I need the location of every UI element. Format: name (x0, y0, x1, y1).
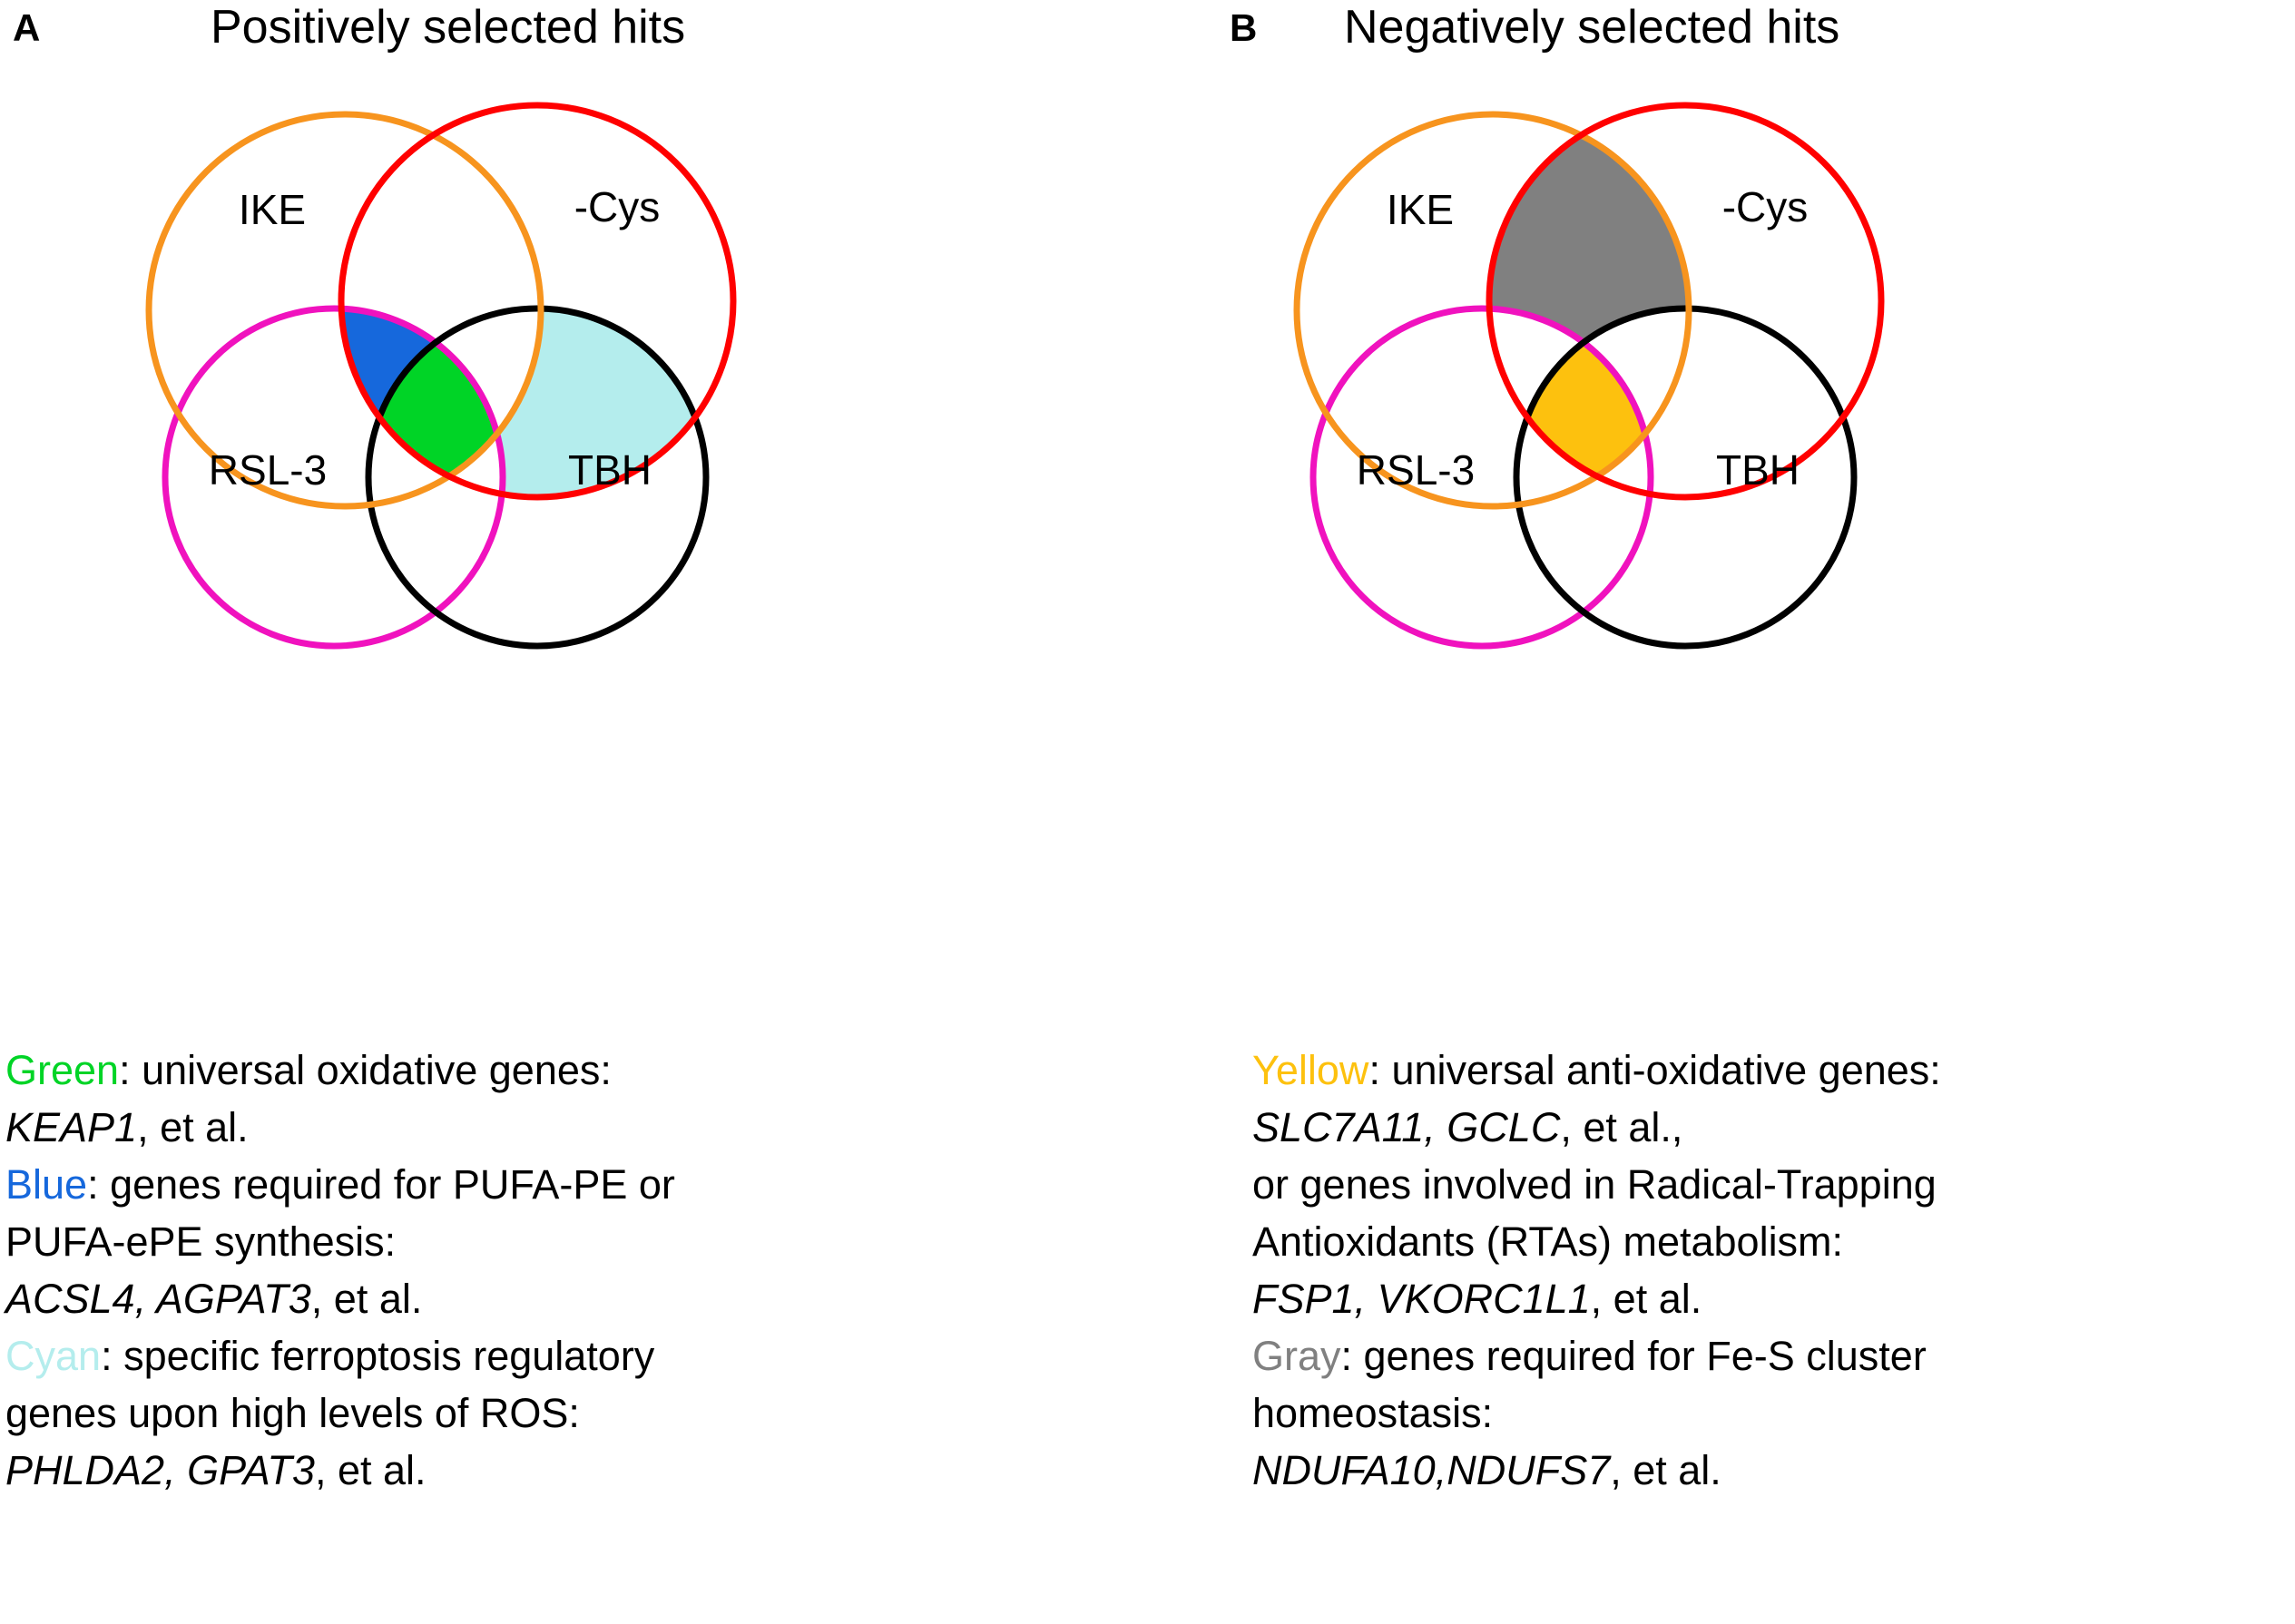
legend-line: NDUFA10,NDUFS7, et al. (1252, 1442, 2295, 1499)
legend-gene-names: KEAP1 (5, 1104, 137, 1150)
legend-line: Gray: genes required for Fe-S cluster (1252, 1327, 2295, 1384)
legend-line: Blue: genes required for PUFA-PE or (5, 1156, 1140, 1213)
legend-text: , et al. (311, 1276, 423, 1322)
panel-b-label-tbh: TBH (1716, 446, 1800, 494)
legend-line: homeostasis: (1252, 1384, 2295, 1442)
legend-gene-names: NDUFA10,NDUFS7 (1252, 1447, 1610, 1493)
legend-line: PHLDA2, GPAT3, et al. (5, 1442, 1140, 1499)
legend-text: Antioxidants (RTAs) metabolism: (1252, 1218, 1843, 1265)
panel-b-label-rsl3: RSL-3 (1357, 446, 1475, 494)
legend-color-word: Gray (1252, 1333, 1341, 1379)
panel-a-label-ike: IKE (239, 186, 306, 233)
legend-color-word: Green (5, 1047, 119, 1093)
legend-gene-names: FSP1, VKORC1L1 (1252, 1276, 1591, 1322)
legend-line: FSP1, VKORC1L1, et al. (1252, 1270, 2295, 1327)
legend-text: : universal anti-oxidative genes: (1368, 1047, 1940, 1093)
legend-line: SLC7A11, GCLC, et al., (1252, 1099, 2295, 1156)
legend-text: , et al. (137, 1104, 249, 1150)
legend-text: : genes required for PUFA-PE or (87, 1161, 675, 1208)
legend-line: KEAP1, et al. (5, 1099, 1140, 1156)
legend-line: genes upon high levels of ROS: (5, 1384, 1140, 1442)
legend-gene-names: ACSL4, AGPAT3 (5, 1276, 311, 1322)
legend-line: PUFA-ePE synthesis: (5, 1213, 1140, 1270)
panel-a-cyan-region (0, 54, 1148, 653)
panel-b: B Negatively selected hits (1148, 0, 2295, 1624)
legend-color-word: Blue (5, 1161, 87, 1208)
legend-line: Antioxidants (RTAs) metabolism: (1252, 1213, 2295, 1270)
venn-diagram-b: IKE -Cys RSL-3 TBH (1148, 54, 2295, 653)
legend-text: , et al. (315, 1447, 427, 1493)
legend-line: ACSL4, AGPAT3, et al. (5, 1270, 1140, 1327)
panel-b-label-cys: -Cys (1722, 183, 1809, 230)
panel-a-label-rsl3: RSL-3 (209, 446, 327, 494)
panel-b-label-ike: IKE (1387, 186, 1454, 233)
panel-a-venn: IKE -Cys RSL-3 TBH (0, 54, 1148, 653)
panel-b-legend: Yellow: universal anti-oxidative genes:S… (1252, 1042, 2295, 1499)
legend-color-word: Cyan (5, 1333, 101, 1379)
legend-line: or genes involved in Radical-Trapping (1252, 1156, 2295, 1213)
panel-a: A Positively selected hits (0, 0, 1148, 1624)
legend-gene-names: PHLDA2, GPAT3 (5, 1447, 315, 1493)
legend-text: , et al., (1560, 1104, 1682, 1150)
legend-text: PUFA-ePE synthesis: (5, 1218, 396, 1265)
venn-diagram-a: IKE -Cys RSL-3 TBH (0, 54, 1148, 653)
panel-a-label-tbh: TBH (568, 446, 652, 494)
legend-color-word: Yellow (1252, 1047, 1368, 1093)
panel-a-label-cys: -Cys (574, 183, 661, 230)
panel-a-letter: A (13, 9, 40, 47)
legend-text: , et al. (1591, 1276, 1702, 1322)
legend-text: genes upon high levels of ROS: (5, 1390, 580, 1436)
legend-text: homeostasis: (1252, 1390, 1493, 1436)
panel-a-legend: Green: universal oxidative genes:KEAP1, … (5, 1042, 1140, 1499)
panel-b-yellow-region (1148, 54, 2295, 653)
legend-line: Yellow: universal anti-oxidative genes: (1252, 1042, 2295, 1099)
panel-b-venn: IKE -Cys RSL-3 TBH (1148, 54, 2295, 653)
legend-text: : universal oxidative genes: (119, 1047, 612, 1093)
legend-text: : specific ferroptosis regulatory (101, 1333, 654, 1379)
legend-text: : genes required for Fe-S cluster (1341, 1333, 1927, 1379)
legend-gene-names: SLC7A11, GCLC (1252, 1104, 1560, 1150)
panel-b-letter: B (1230, 9, 1257, 47)
figure-root: A Positively selected hits (0, 0, 2295, 1624)
panel-a-title: Positively selected hits (211, 2, 685, 54)
panel-b-title: Negatively selected hits (1344, 2, 1839, 54)
legend-text: , et al. (1610, 1447, 1721, 1493)
legend-text: or genes involved in Radical-Trapping (1252, 1161, 1937, 1208)
legend-line: Green: universal oxidative genes: (5, 1042, 1140, 1099)
legend-line: Cyan: specific ferroptosis regulatory (5, 1327, 1140, 1384)
